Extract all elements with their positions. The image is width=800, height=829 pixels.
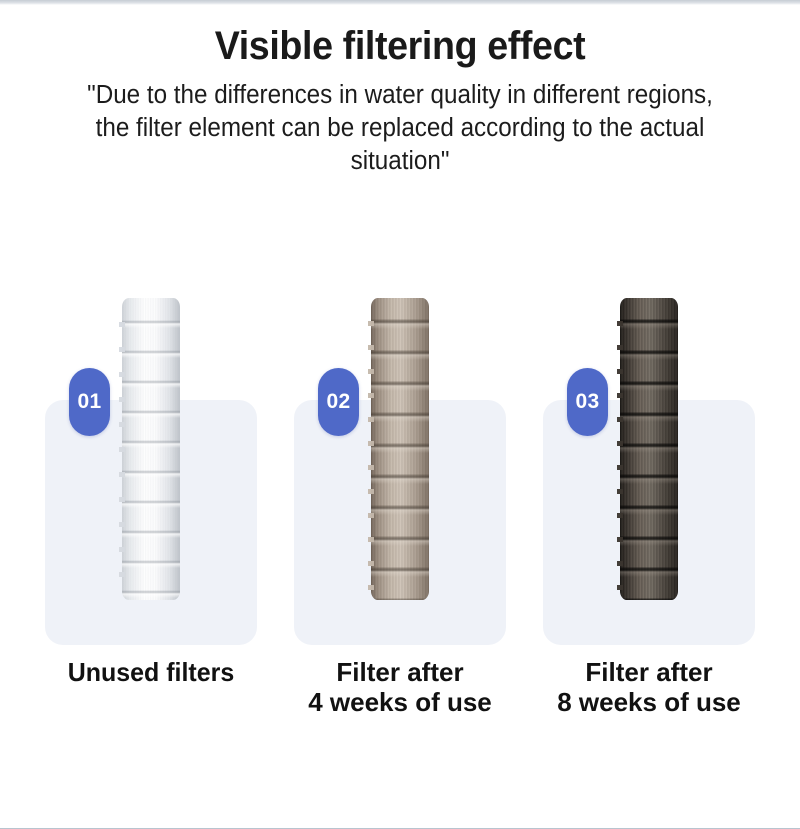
filter-rib-bands-icon — [620, 298, 678, 600]
filter-fiber-texture-icon — [371, 298, 429, 600]
filter-panel-01: 01 Unused filters — [45, 290, 257, 750]
panel-caption-01: Unused filters — [26, 658, 276, 688]
filter-cartridge-8-weeks — [620, 298, 678, 600]
filter-rib-bands-icon — [371, 298, 429, 600]
filter-panel-02: 02 Filter after 4 weeks of use — [294, 290, 506, 750]
filter-fiber-texture-icon — [620, 298, 678, 600]
filter-body-icon — [371, 298, 429, 600]
filter-cartridge-unused — [122, 298, 180, 600]
filter-body-icon — [122, 298, 180, 600]
filter-body-icon — [620, 298, 678, 600]
filter-cartridge-4-weeks — [371, 298, 429, 600]
step-badge-02: 02 — [318, 368, 359, 436]
filter-rib-bands-icon — [122, 298, 180, 600]
filter-cylinder-shading-icon — [620, 298, 678, 600]
step-badge-03: 03 — [567, 368, 608, 436]
filter-cylinder-shading-icon — [122, 298, 180, 600]
header: Visible filtering effect "Due to the dif… — [0, 24, 800, 178]
panel-caption-03: Filter after 8 weeks of use — [519, 658, 779, 717]
page-title: Visible filtering effect — [24, 24, 776, 69]
panel-caption-02: Filter after 4 weeks of use — [270, 658, 530, 717]
step-badge-01: 01 — [69, 368, 110, 436]
filter-panel-03: 03 Filter after 8 weeks of use — [543, 290, 755, 750]
top-edge-rule — [0, 0, 800, 5]
page-subtitle: "Due to the differences in water quality… — [68, 79, 733, 178]
comparison-panels: 01 Unused filters 02 Filter after 4 week… — [0, 290, 800, 750]
filter-cylinder-shading-icon — [371, 298, 429, 600]
filter-fiber-texture-icon — [122, 298, 180, 600]
